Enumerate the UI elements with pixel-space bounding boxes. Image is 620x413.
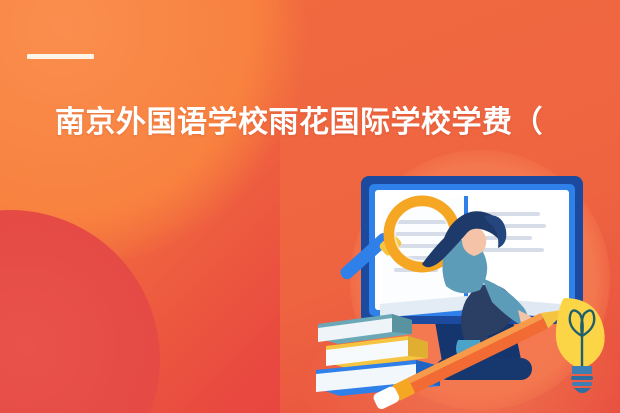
accent-rule [27, 54, 94, 59]
study-research-illustration [316, 168, 620, 413]
lightbulb-icon [556, 298, 605, 393]
article-cover-banner: 南京外国语学校雨花国际学校学费（ [0, 0, 620, 413]
page-title: 南京外国语学校雨花国际学校学费（ [55, 103, 600, 143]
